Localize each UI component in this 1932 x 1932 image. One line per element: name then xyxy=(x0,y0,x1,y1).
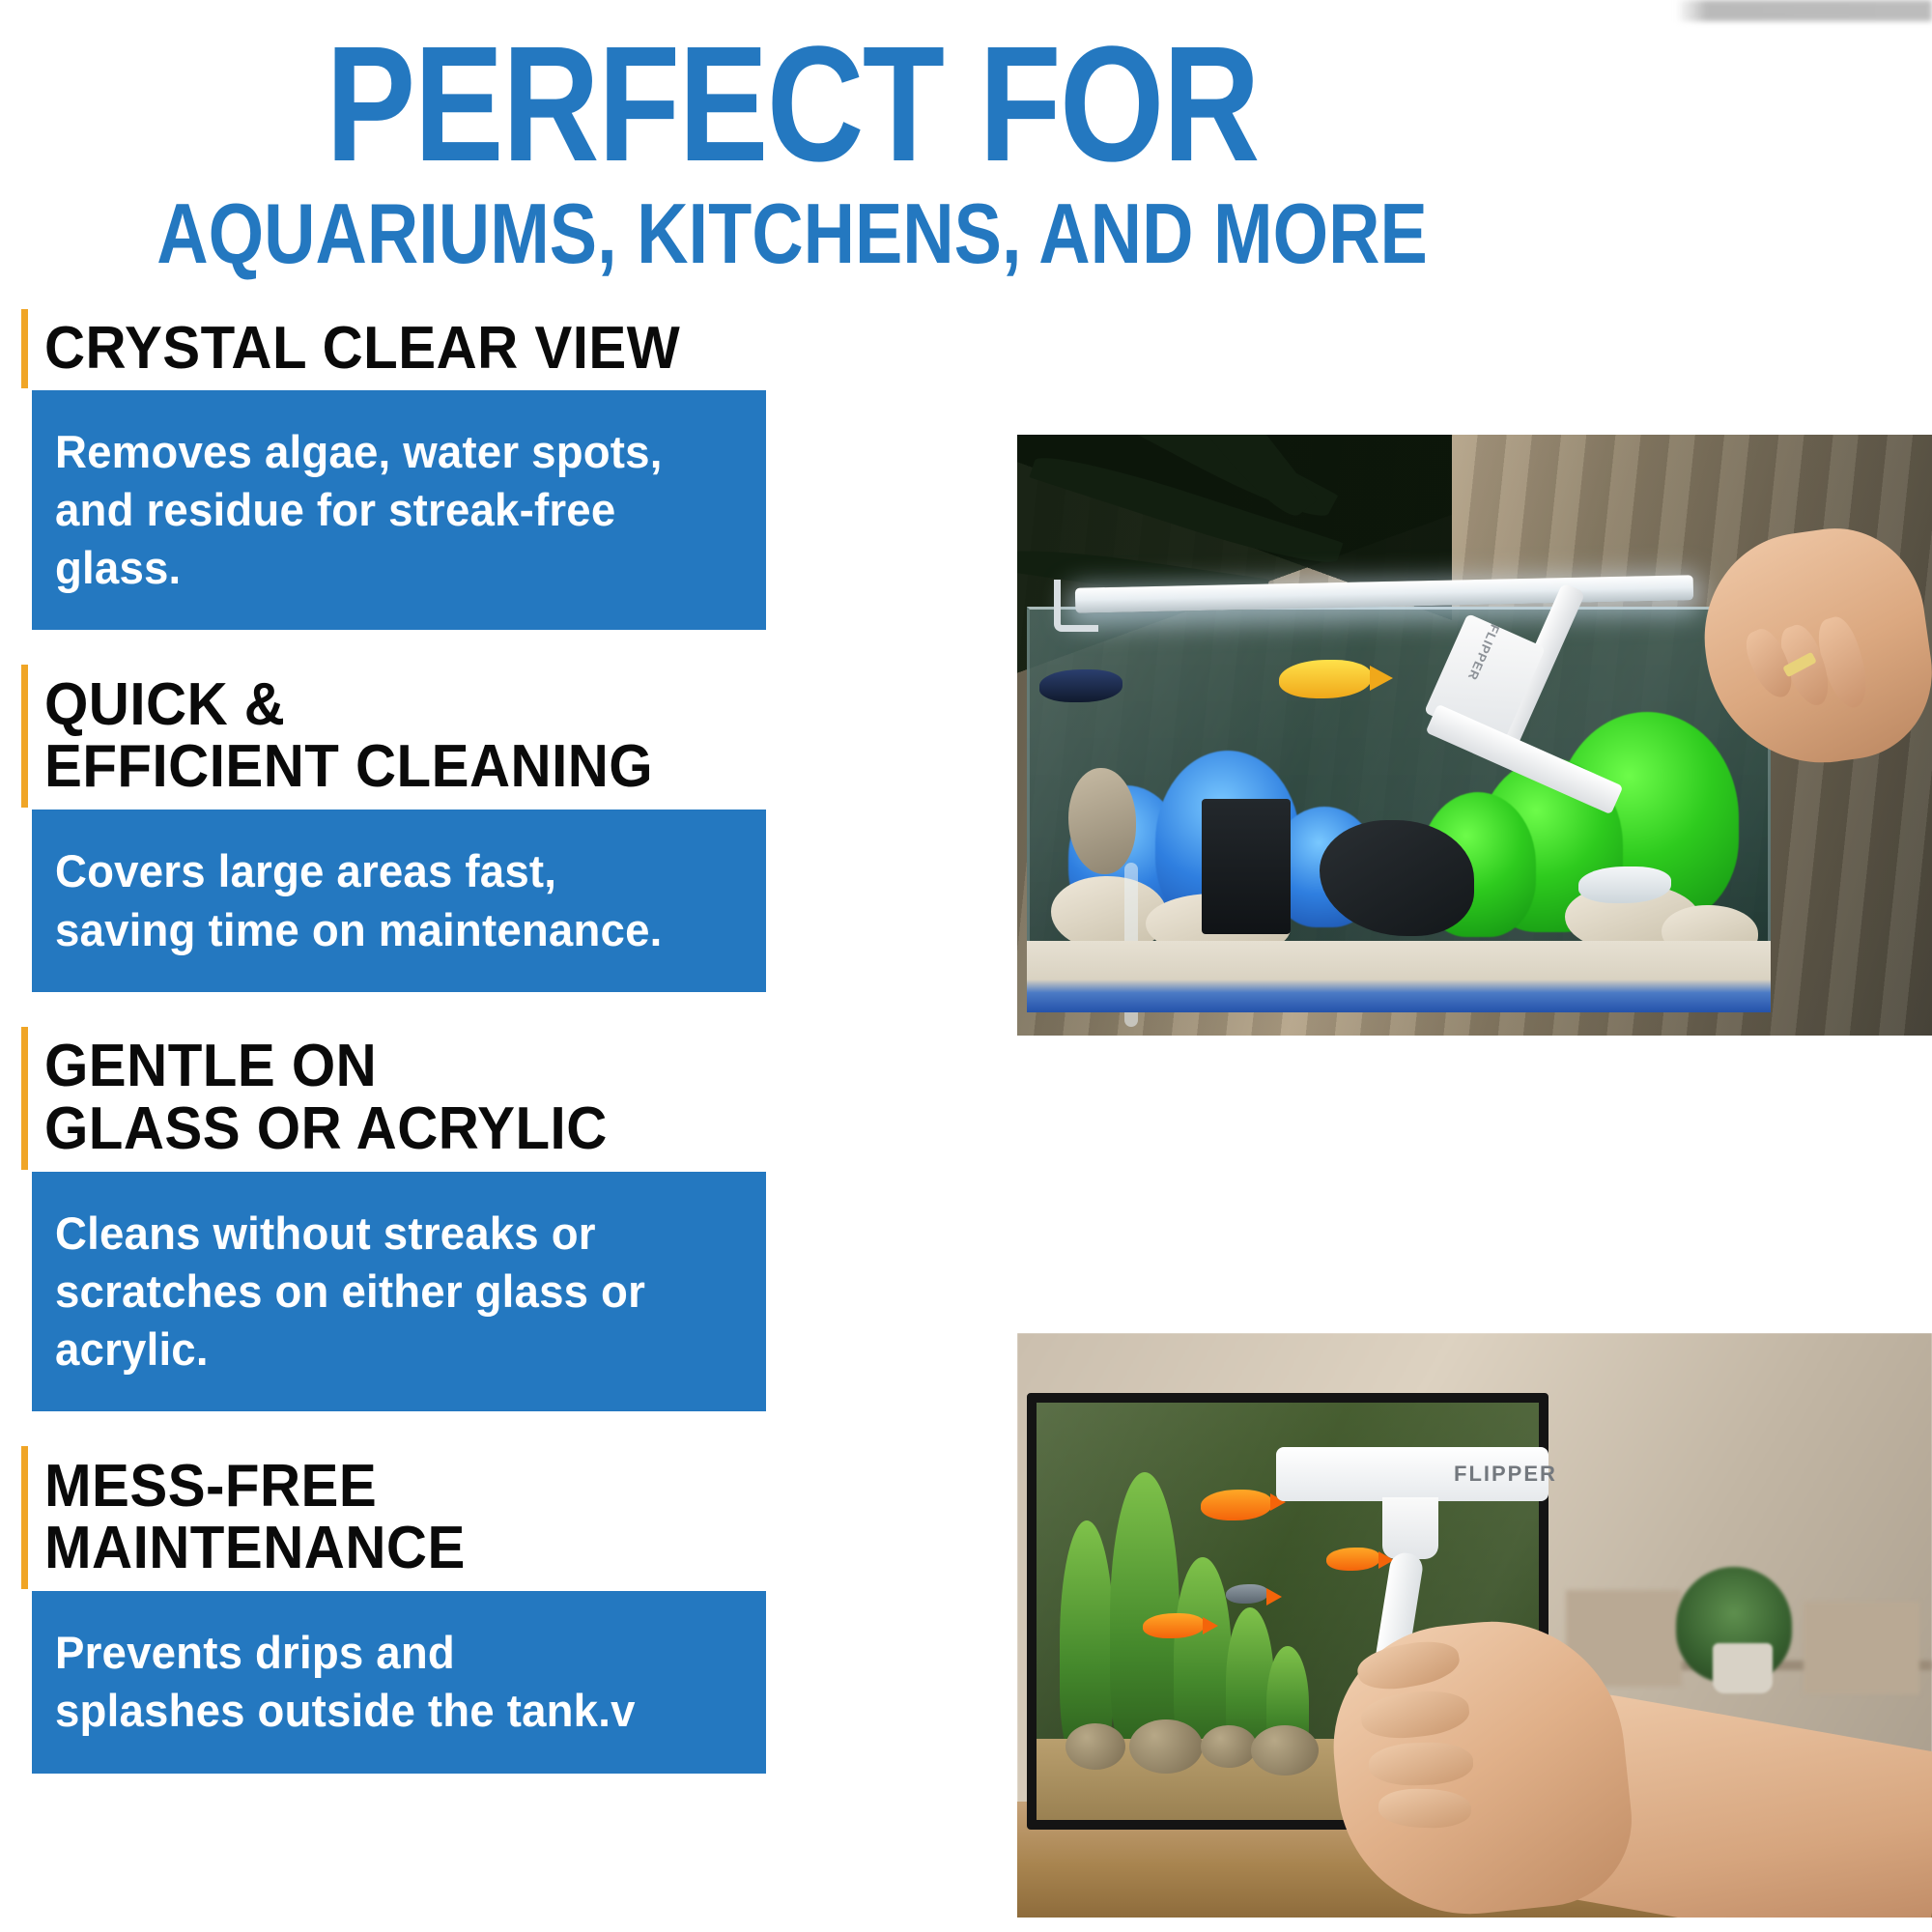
feature-item-mess-free-maintenance: MESS-FREE MAINTENANCE Prevents drips and… xyxy=(21,1444,987,1773)
feature-description: Prevents drips and splashes outside the … xyxy=(55,1624,745,1740)
feature-description: Removes algae, water spots, and residue … xyxy=(55,423,745,597)
feature-header: CRYSTAL CLEAR VIEW xyxy=(21,307,987,390)
feature-header: MESS-FREE MAINTENANCE xyxy=(21,1444,987,1591)
feature-item-gentle-on-glass-or-acrylic: GENTLE ON GLASS OR ACRYLIC Cleans withou… xyxy=(21,1025,987,1411)
header-block: PERFECT FOR AQUARIUMS, KITCHENS, AND MOR… xyxy=(0,33,1584,276)
tank-filter xyxy=(1202,799,1291,934)
rock-formation xyxy=(1068,768,1136,874)
dark-fish xyxy=(1039,669,1122,702)
orange-accent-bar-icon xyxy=(21,309,28,388)
plant-pot xyxy=(1713,1643,1773,1693)
feature-item-quick-efficient-cleaning: QUICK & EFFICIENT CLEANING Covers large … xyxy=(21,663,987,991)
feature-description: Covers large areas fast, saving time on … xyxy=(55,842,745,958)
orange-accent-bar-icon xyxy=(21,665,28,808)
light-mount-arm xyxy=(1054,580,1098,632)
river-stone xyxy=(1065,1723,1125,1770)
feature-title: GENTLE ON GLASS OR ACRYLIC xyxy=(44,1036,608,1160)
feature-title: QUICK & EFFICIENT CLEANING xyxy=(44,674,653,799)
aquarium-tank xyxy=(1027,607,1771,1012)
feature-item-crystal-clear-view: CRYSTAL CLEAR VIEW Removes algae, water … xyxy=(21,307,987,630)
product-photo-aquarium-cleaning: FLIPPER xyxy=(1017,435,1932,1036)
feature-description-box: Removes algae, water spots, and residue … xyxy=(32,390,766,630)
feature-description-box: Covers large areas fast, saving time on … xyxy=(32,810,766,991)
orange-accent-bar-icon xyxy=(21,1027,28,1170)
orange-accent-bar-icon xyxy=(21,1446,28,1589)
brand-label: FLIPPER xyxy=(1454,1462,1557,1487)
blue-gravel xyxy=(1027,980,1771,1012)
product-photo-hand-holding-squeegee: FLIPPER xyxy=(1017,1333,1932,1918)
river-stone xyxy=(1201,1725,1257,1768)
background-box xyxy=(1804,1602,1919,1694)
feature-header: GENTLE ON GLASS OR ACRYLIC xyxy=(21,1025,987,1172)
top-edge-artifact xyxy=(1676,0,1932,21)
river-stone xyxy=(1129,1719,1203,1774)
feature-description-box: Cleans without streaks or scratches on e… xyxy=(32,1172,766,1411)
feature-header: QUICK & EFFICIENT CLEANING xyxy=(21,663,987,810)
feature-description-box: Prevents drips and splashes outside the … xyxy=(32,1591,766,1773)
river-stone xyxy=(1251,1725,1319,1776)
white-fish xyxy=(1578,867,1671,903)
page-title: PERFECT FOR xyxy=(143,33,1442,178)
squeegee-neck xyxy=(1382,1497,1438,1559)
feature-title: MESS-FREE MAINTENANCE xyxy=(44,1456,466,1580)
page-subtitle: AQUARIUMS, KITCHENS, AND MORE xyxy=(127,191,1458,276)
feature-title: CRYSTAL CLEAR VIEW xyxy=(44,318,680,380)
feature-list: CRYSTAL CLEAR VIEW Removes algae, water … xyxy=(21,307,987,1806)
feature-description: Cleans without streaks or scratches on e… xyxy=(55,1205,745,1378)
